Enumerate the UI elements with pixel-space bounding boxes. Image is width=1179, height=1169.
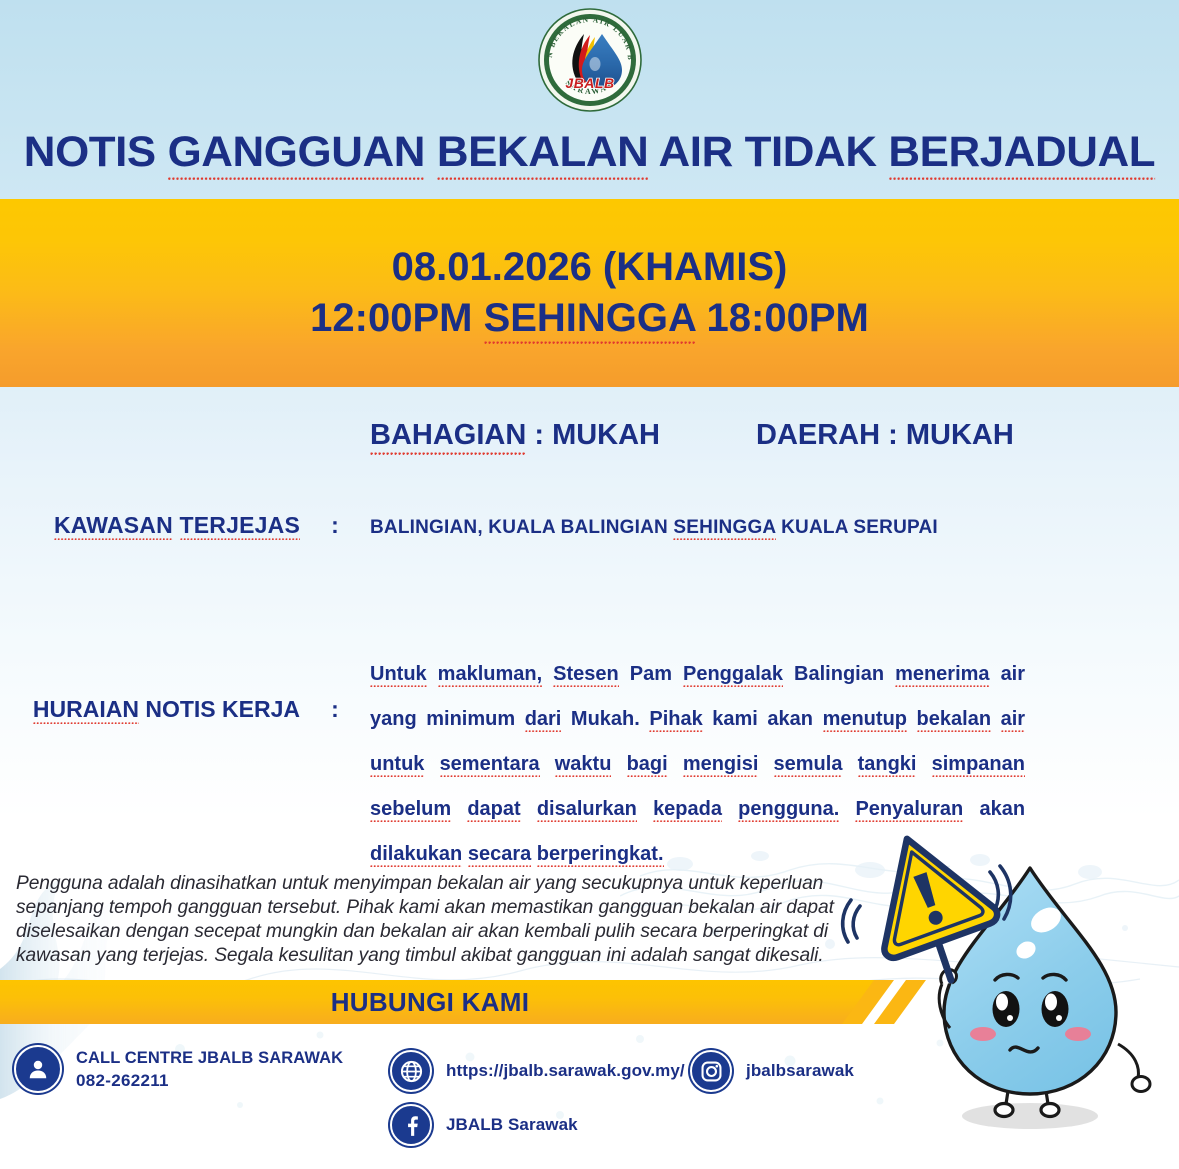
work-notice-token: Mukah. (571, 708, 640, 730)
advisory-paragraph: Pengguna adalah dinasihatkan untuk menyi… (16, 872, 846, 968)
poster-header: JABATAN BEKALAN AIR LUAR BANDAR SARAWAK … (0, 0, 1179, 199)
affected-area-value-sehingga: SEHINGGA (673, 517, 775, 541)
work-notice-token: Penggalak (683, 663, 783, 688)
work-notice-token: tangki (858, 753, 917, 778)
notice-details: BAHAGIAN : MUKAH DAERAH : MUKAH KAWASAN … (0, 387, 1179, 887)
work-notice-token: pengguna. (738, 798, 839, 823)
work-notice-colon: : (300, 652, 370, 723)
work-notice-token: disalurkan (537, 798, 637, 823)
contact-instagram[interactable]: jbalbsarawak (690, 1050, 854, 1092)
work-notice-label-part2: NOTIS KERJA (139, 696, 300, 722)
district-label: DAERAH (756, 419, 880, 451)
work-notice-label-part1: HURAIAN (33, 696, 139, 725)
work-notice-row: HURAIAN NOTIS KERJA : Untuk makluman, St… (0, 652, 1179, 877)
division-value: MUKAH (552, 419, 660, 451)
work-notice-token: Stesen (553, 663, 619, 688)
call-centre-name: CALL CENTRE JBALB SARAWAK (76, 1047, 343, 1069)
work-notice-token: dilakukan (370, 843, 462, 868)
work-notice-token: makluman, (438, 663, 542, 688)
website-url: https://jbalb.sarawak.gov.my/ (446, 1061, 685, 1081)
work-notice-token: dapat (467, 798, 520, 823)
work-notice-token: kami (712, 708, 758, 730)
title-word-gangguan: GANGGUAN (168, 128, 425, 181)
title-words-air-tidak: AIR TIDAK (648, 128, 888, 176)
contact-website[interactable]: https://jbalb.sarawak.gov.my/ (390, 1050, 685, 1092)
work-notice-token: Pihak (649, 708, 702, 733)
work-notice-label: HURAIAN NOTIS KERJA (0, 652, 300, 723)
work-notice-token: menerima (895, 663, 990, 688)
district-value: MUKAH (906, 419, 1014, 451)
division-separator: : (526, 419, 552, 451)
affected-area-label-part1: KAWASAN (54, 512, 173, 541)
work-notice-token: yang (370, 708, 417, 730)
contact-bar-title: HUBUNGI KAMI (331, 987, 530, 1018)
work-notice-token: kepada (653, 798, 722, 823)
time-end: 18:00PM (695, 296, 868, 340)
work-notice-token: semula (774, 753, 843, 778)
work-notice-body: Untuk makluman, Stesen Pam Penggalak Bal… (370, 652, 1025, 877)
contact-bar: HUBUNGI KAMI (0, 980, 880, 1024)
work-notice-token: akan (979, 798, 1025, 820)
affected-area-row: KAWASAN TERJEJAS : BALINGIAN, KUALA BALI… (0, 512, 1179, 539)
division-label: BAHAGIAN (370, 419, 526, 456)
affected-area-value-part1: BALINGIAN, KUALA BALINGIAN (370, 517, 673, 538)
work-notice-token: akan (767, 708, 813, 730)
instagram-icon (690, 1050, 732, 1092)
title-space-1 (425, 128, 437, 176)
date-time-banner: 08.01.2026 (KHAMIS) 12:00PM SEHINGGA 18:… (0, 199, 1179, 387)
work-notice-token: simpanan (932, 753, 1025, 778)
globe-icon (390, 1050, 432, 1092)
affected-area-label-part2: TERJEJAS (180, 512, 300, 541)
call-centre-text: CALL CENTRE JBALB SARAWAK 082-262211 (76, 1047, 343, 1092)
work-notice-token: Untuk (370, 663, 427, 688)
contact-bar-wrapper: HUBUNGI KAMI (0, 980, 1179, 1024)
work-notice-token: air (1001, 663, 1025, 685)
work-notice-token: Penyaluran (855, 798, 963, 823)
work-notice-token: Balingian (794, 663, 884, 685)
svg-text:JBALB: JBALB (565, 75, 614, 91)
page-title: NOTIS GANGGUAN BEKALAN AIR TIDAK BERJADU… (0, 128, 1179, 177)
work-notice-token: untuk (370, 753, 424, 778)
title-word-berjadual: BERJADUAL (888, 128, 1155, 181)
affected-area-colon: : (300, 512, 370, 539)
facebook-page: JBALB Sarawak (446, 1115, 578, 1135)
work-notice-token: sementara (440, 753, 540, 778)
work-notice-token: secara (468, 843, 531, 868)
district-field: DAERAH : MUKAH (660, 419, 1179, 452)
notice-time-range: 12:00PM SEHINGGA 18:00PM (310, 296, 869, 341)
notice-poster: JABATAN BEKALAN AIR LUAR BANDAR SARAWAK … (0, 0, 1179, 1169)
title-word-bekalan: BEKALAN (437, 128, 649, 181)
work-notice-token: mengisi (683, 753, 759, 778)
contact-call-centre[interactable]: CALL CENTRE JBALB SARAWAK 082-262211 (14, 1045, 343, 1093)
work-notice-token: bekalan (917, 708, 991, 733)
work-notice-token: waktu (555, 753, 612, 778)
call-centre-number: 082-262211 (76, 1069, 343, 1092)
affected-area-value: BALINGIAN, KUALA BALINGIAN SEHINGGA KUAL… (370, 517, 1179, 539)
affected-area-value-part3: KUALA SERUPAI (776, 517, 938, 538)
title-word-notis: NOTIS (24, 128, 168, 176)
jbalb-logo: JABATAN BEKALAN AIR LUAR BANDAR SARAWAK … (538, 8, 642, 112)
work-notice-token: dari (525, 708, 562, 733)
work-notice-token: bagi (627, 753, 668, 778)
work-notice-token: berperingkat. (537, 843, 664, 868)
instagram-handle: jbalbsarawak (746, 1061, 854, 1081)
notice-date: 08.01.2026 (KHAMIS) (392, 245, 788, 290)
work-notice-token: minimum (426, 708, 515, 730)
time-start: 12:00PM (310, 296, 483, 340)
contact-facebook[interactable]: JBALB Sarawak (390, 1104, 578, 1146)
work-notice-token: menutup (823, 708, 907, 733)
division-district-row: BAHAGIAN : MUKAH DAERAH : MUKAH (0, 419, 1179, 452)
footer-contacts: CALL CENTRE JBALB SARAWAK 082-262211 htt… (0, 1030, 1179, 1169)
district-separator: : (880, 419, 906, 451)
work-notice-token: air (1001, 708, 1025, 733)
work-notice-token: sebelum (370, 798, 451, 823)
person-icon (14, 1045, 62, 1093)
work-notice-token: Pam (630, 663, 672, 685)
division-field: BAHAGIAN : MUKAH (0, 419, 660, 452)
time-sehingga-word: SEHINGGA (484, 296, 696, 345)
facebook-icon (390, 1104, 432, 1146)
affected-area-label: KAWASAN TERJEJAS (0, 512, 300, 539)
